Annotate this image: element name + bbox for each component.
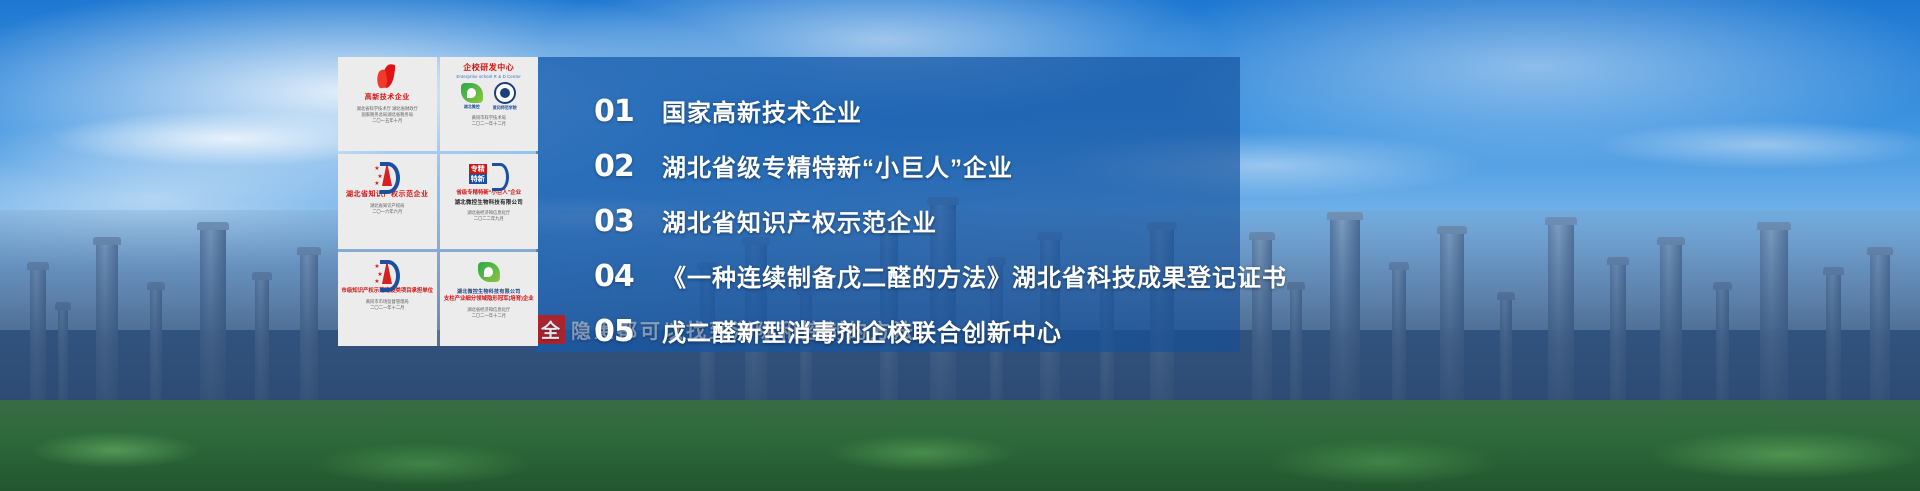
highlight-text: 湖北省知识产权示范企业 [662, 203, 937, 238]
sublogo-caption: 湖北微控 [464, 104, 480, 110]
certificate-issuer: 湖北省知识产权局 二〇一六年六月 [370, 203, 404, 215]
certificate-title: 企校研发中心 [463, 64, 514, 73]
highlight-item-03: 03 湖北省知识产权示范企业 [594, 203, 937, 239]
certificate-card-ip-demo[interactable]: ★★★ 湖北省知识产权示范企业 湖北省知识产权局 二〇一六年六月 [338, 154, 437, 248]
highlight-text: 《一种连续制备戊二醛的方法》湖北省科技成果登记证书 [662, 258, 1287, 293]
certificate-card-rdcenter[interactable]: 企校研发中心 Enterprise school R & D Center 湖北… [440, 57, 539, 151]
highlight-item-04: 04 《一种连续制备戊二醛的方法》湖北省科技成果登记证书 [594, 258, 1287, 294]
certificate-subtitle: 湖北微控生物科技有限公司 [457, 288, 521, 295]
certificate-issuer: 湖北省经济和信息化厅 二〇二一年十二月 [467, 307, 510, 319]
highlights-list: 01 国家高新技术企业 02 湖北省级专精特新“小巨人”企业 03 湖北省知识产… [536, 57, 1240, 352]
highlight-number: 05 [594, 314, 636, 349]
certificate-title: 支柱产业细分领域隐形冠军(培育)企业 [444, 297, 534, 303]
certificate-card-xiaojuren[interactable]: 专精特新 省级专精特新“小巨人”企业 湖北微控生物科技有限公司 湖北省经济和信息… [440, 154, 539, 248]
certificate-card-gaoxin[interactable]: 高新技术企业 湖北省科学技术厅 湖北省财政厅 国家税务总局湖北省税务局 二〇一五… [338, 57, 437, 151]
certificate-title-en: Enterprise school R & D Center [457, 74, 521, 79]
highlight-item-01: 01 国家高新技术企业 [594, 93, 862, 129]
sail-star-icon: ★★★ [374, 159, 400, 189]
certificates-grid: 高新技术企业 湖北省科学技术厅 湖北省财政厅 国家税务总局湖北省税务局 二〇一五… [338, 57, 538, 346]
highlight-number: 04 [594, 259, 636, 294]
flame-icon [376, 62, 398, 92]
highlight-text: 湖北省级专精特新“小巨人”企业 [662, 148, 1013, 183]
certificate-subtitle: 湖北微控生物科技有限公司 [455, 198, 523, 206]
highlight-item-05: 05 戊二醛新型消毒剂企校联合创新中心 [594, 313, 1062, 349]
green-leaf-icon: 湖北微控 [461, 83, 483, 110]
university-seal-icon: 黄冈师范学院 [493, 82, 517, 111]
certificate-issuer: 湖北省经济和信息化厅 二〇二二年九月 [467, 210, 510, 222]
certificate-issuer: 湖北省科学技术厅 湖北省财政厅 国家税务总局湖北省税务局 二〇一五年十月 [357, 106, 418, 125]
highlight-text: 国家高新技术企业 [662, 93, 862, 128]
certificate-title: 高新技术企业 [365, 94, 410, 102]
highlight-text: 戊二醛新型消毒剂企校联合创新中心 [662, 313, 1062, 348]
sublogo-caption: 黄冈师范学院 [493, 105, 517, 111]
certificate-card-city-ip[interactable]: ★★★ 市级知识产权示范建设类项目承担单位 黄冈市市场监督管理局 二〇二一年十二… [338, 252, 437, 346]
highlight-number: 01 [594, 94, 636, 129]
green-leaf-icon [478, 257, 500, 287]
zhuanjing-texin-icon: 专精特新 [469, 159, 509, 189]
certificate-title: 省级专精特新“小巨人”企业 [456, 191, 521, 197]
highlight-number: 02 [594, 149, 636, 184]
certificate-issuer: 黄冈市市场监督管理局 二〇二一年十二月 [366, 299, 409, 311]
ground-greenery [0, 400, 1920, 491]
highlight-item-02: 02 湖北省级专精特新“小巨人”企业 [594, 148, 1013, 184]
sail-star-icon: ★★★ [374, 257, 400, 287]
banner-image: 全 隐患都可以找到消除和控制的方法 01 国家高新技术企业 02 湖北省级专精特… [0, 0, 1920, 491]
certificate-card-hidden-champion[interactable]: 湖北微控生物科技有限公司 支柱产业细分领域隐形冠军(培育)企业 湖北省经济和信息… [440, 252, 539, 346]
certificate-issuer: 黄冈市科学技术局 二〇二一年十二月 [472, 115, 506, 127]
highlight-number: 03 [594, 204, 636, 239]
